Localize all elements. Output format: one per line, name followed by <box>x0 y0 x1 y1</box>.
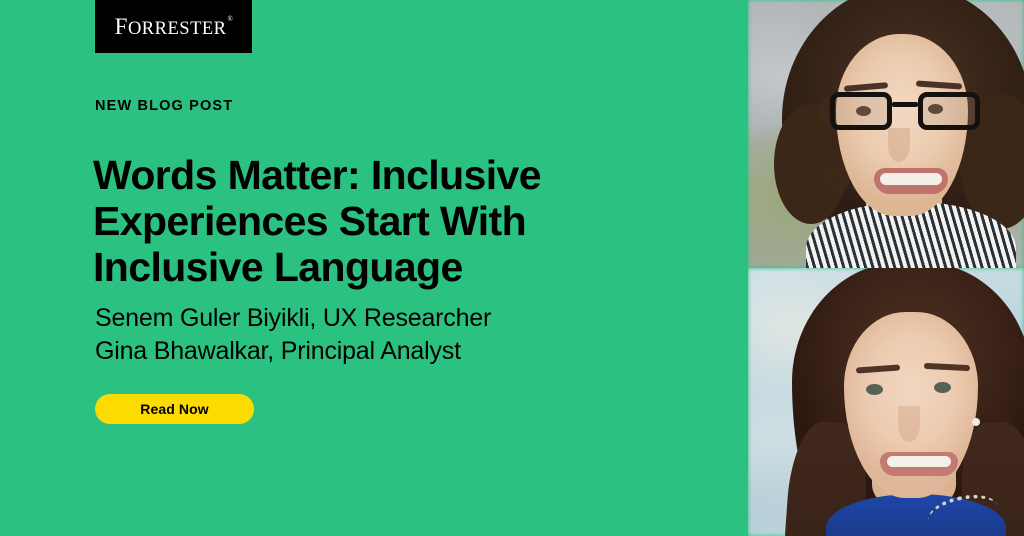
blog-promo-card: FORRESTER® NEW BLOG POST Words Matter: I… <box>0 0 1024 536</box>
lens-left <box>830 92 892 130</box>
logo-rest-letters: ORRESTER <box>128 19 227 39</box>
curl-detail <box>978 184 1008 214</box>
teeth-shape <box>880 173 942 185</box>
earring-detail <box>972 418 980 426</box>
nose-shape <box>888 128 910 162</box>
glasses-bridge <box>892 102 918 107</box>
registered-trademark-icon: ® <box>228 15 234 23</box>
portrait-column <box>748 0 1024 536</box>
logo-cap-letter: F <box>115 14 128 39</box>
eye-shape <box>866 384 883 395</box>
eyeglasses-icon <box>830 92 980 132</box>
author-line: Senem Guler Biyikli, UX Researcher <box>95 302 695 335</box>
author-list: Senem Guler Biyikli, UX Researcher Gina … <box>95 302 695 368</box>
eye-shape <box>934 382 951 393</box>
read-now-button[interactable]: Read Now <box>95 394 254 424</box>
forrester-logo[interactable]: FORRESTER® <box>95 0 252 53</box>
teeth-shape <box>887 456 951 467</box>
page-title: Words Matter: Inclusive Experiences Star… <box>93 152 693 290</box>
forrester-wordmark: FORRESTER® <box>115 15 233 39</box>
nose-shape <box>898 406 920 442</box>
eyebrow-label: NEW BLOG POST <box>95 99 233 114</box>
author-line: Gina Bhawalkar, Principal Analyst <box>95 335 695 368</box>
portrait-gina-bhawalkar <box>748 268 1024 536</box>
portrait-senem-guler-biyikli <box>748 0 1024 268</box>
content-column: FORRESTER® NEW BLOG POST Words Matter: I… <box>0 0 748 536</box>
lens-right <box>918 92 980 130</box>
mouth-shape <box>874 168 948 194</box>
mouth-shape <box>880 452 958 476</box>
